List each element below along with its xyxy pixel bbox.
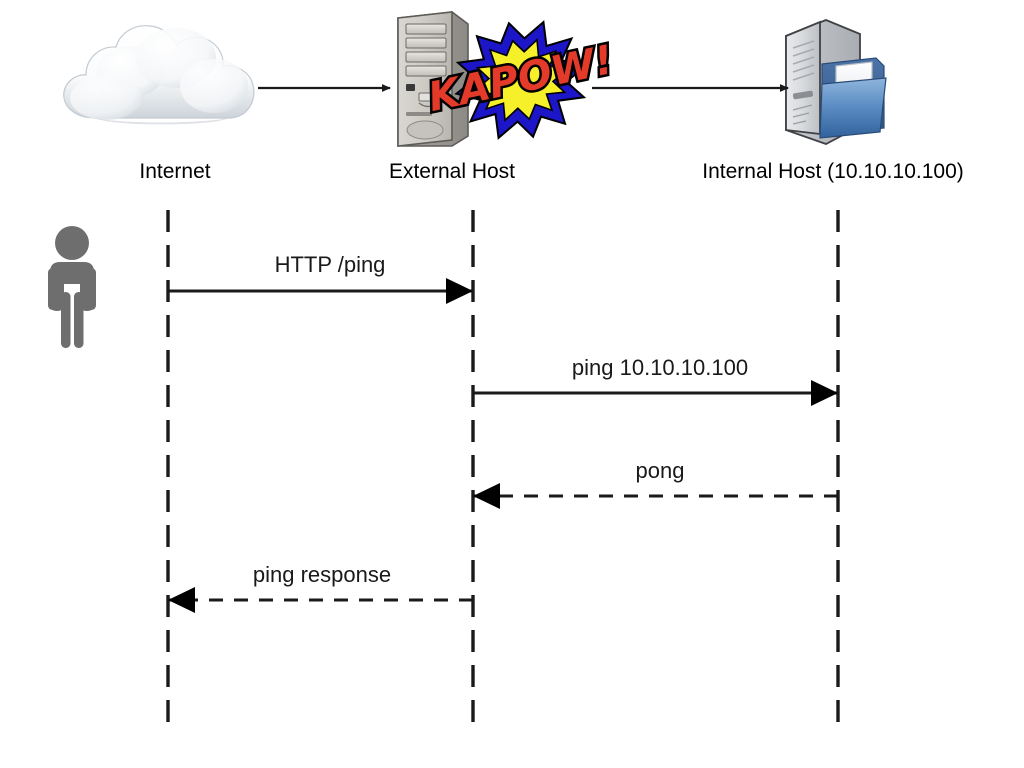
node-label-internal-host: Internal Host (10.10.10.100)	[702, 160, 964, 183]
message-ping-ip: ping 10.10.10.100	[473, 355, 838, 393]
sequence-diagram: KAPOW!	[0, 0, 1024, 768]
diagram-canvas: KAPOW!	[0, 0, 1024, 768]
cloud-icon	[64, 26, 254, 125]
message-ping-response: ping response	[168, 562, 473, 600]
node-label-internet: Internet	[139, 160, 210, 183]
message-pong: pong	[473, 458, 838, 496]
message-label: ping 10.10.10.100	[572, 355, 748, 380]
message-label: pong	[636, 458, 685, 483]
server-folder-icon	[786, 20, 886, 144]
node-label-external-host: External Host	[389, 160, 515, 183]
message-label: ping response	[253, 562, 391, 587]
message-label: HTTP /ping	[275, 252, 386, 277]
message-http-ping: HTTP /ping	[168, 252, 473, 291]
user-actor-icon	[48, 226, 96, 348]
